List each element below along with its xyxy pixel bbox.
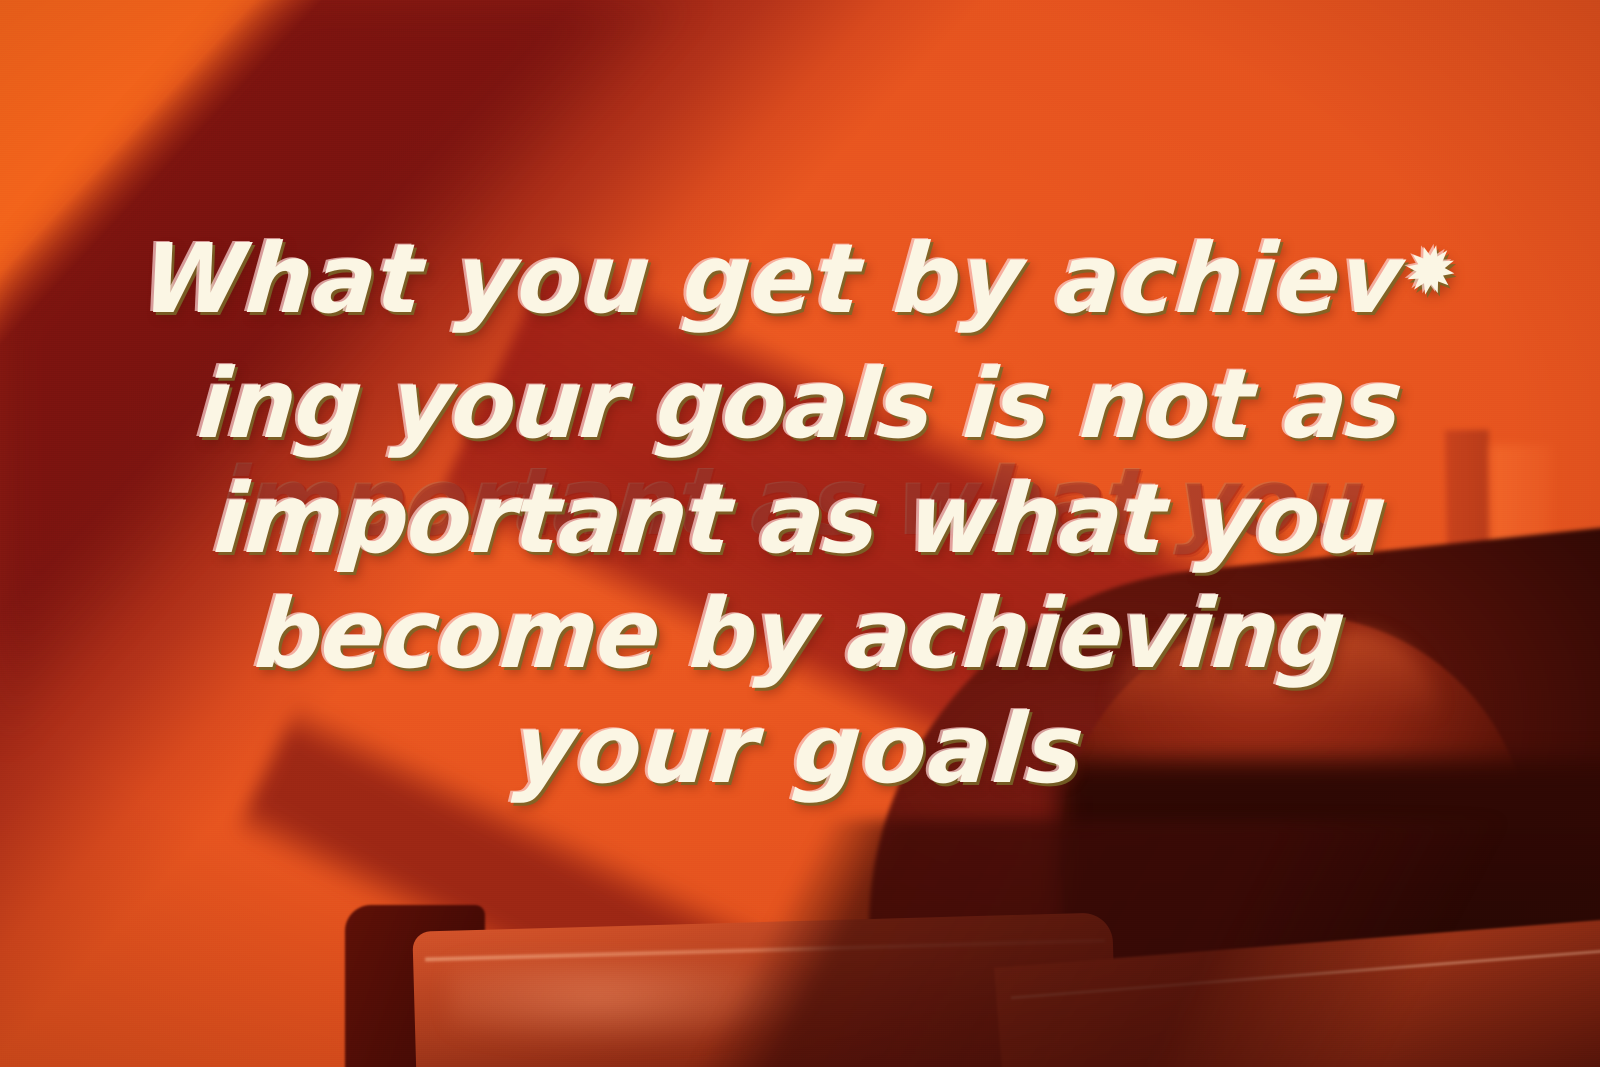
- quote-text-block: What you get by achiev✹ ing your goals i…: [0, 222, 1600, 807]
- quote-line-3: important as what you: [87, 462, 1513, 577]
- quote-line-2: ing your goals is not as: [87, 347, 1513, 462]
- quote-line-4: become by achieving: [87, 577, 1513, 692]
- quote-line-1-text: What you get by achiev: [138, 223, 1408, 335]
- quote-card: important as what you What you get by ac…: [0, 0, 1600, 1067]
- quote-line-5: your goals: [87, 692, 1513, 807]
- quote-line-1: What you get by achiev✹: [86, 222, 1513, 347]
